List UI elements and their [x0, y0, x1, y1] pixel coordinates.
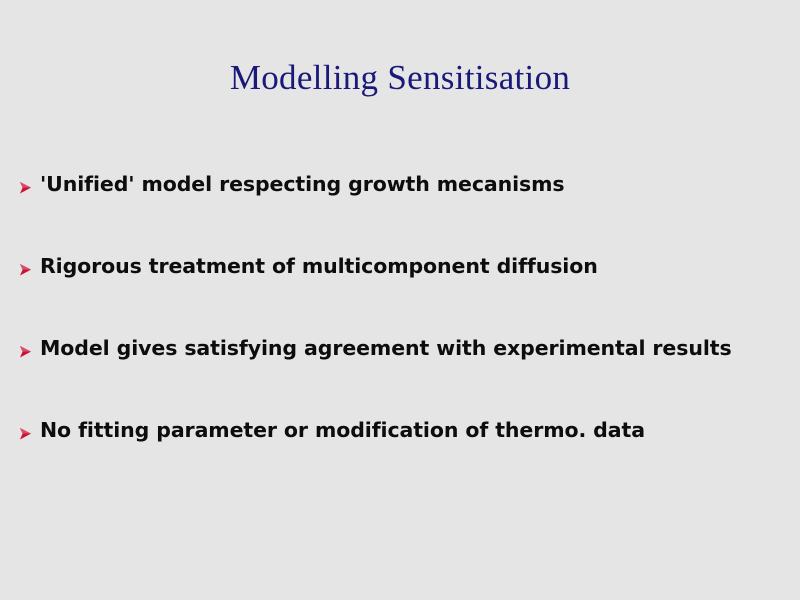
list-item: No fitting parameter or modification of … — [0, 418, 800, 500]
list-item: Model gives satisfying agreement with ex… — [0, 336, 800, 418]
list-item: Rigorous treatment of multicomponent dif… — [0, 254, 800, 336]
list-item: 'Unified' model respecting growth mecani… — [0, 172, 800, 254]
arrow-chevron-bullet-icon — [17, 261, 35, 279]
arrow-chevron-bullet-icon — [17, 343, 35, 361]
bullet-list: 'Unified' model respecting growth mecani… — [0, 172, 800, 500]
list-item-label: Model gives satisfying agreement with ex… — [40, 336, 732, 360]
page-title: Modelling Sensitisation — [0, 59, 800, 98]
presentation-slide: Modelling Sensitisation 'Unified' model … — [0, 0, 800, 600]
arrow-chevron-bullet-icon — [17, 179, 35, 197]
list-item-label: 'Unified' model respecting growth mecani… — [40, 172, 565, 196]
list-item-label: No fitting parameter or modification of … — [40, 418, 645, 442]
arrow-chevron-bullet-icon — [17, 425, 35, 443]
list-item-label: Rigorous treatment of multicomponent dif… — [40, 254, 598, 278]
